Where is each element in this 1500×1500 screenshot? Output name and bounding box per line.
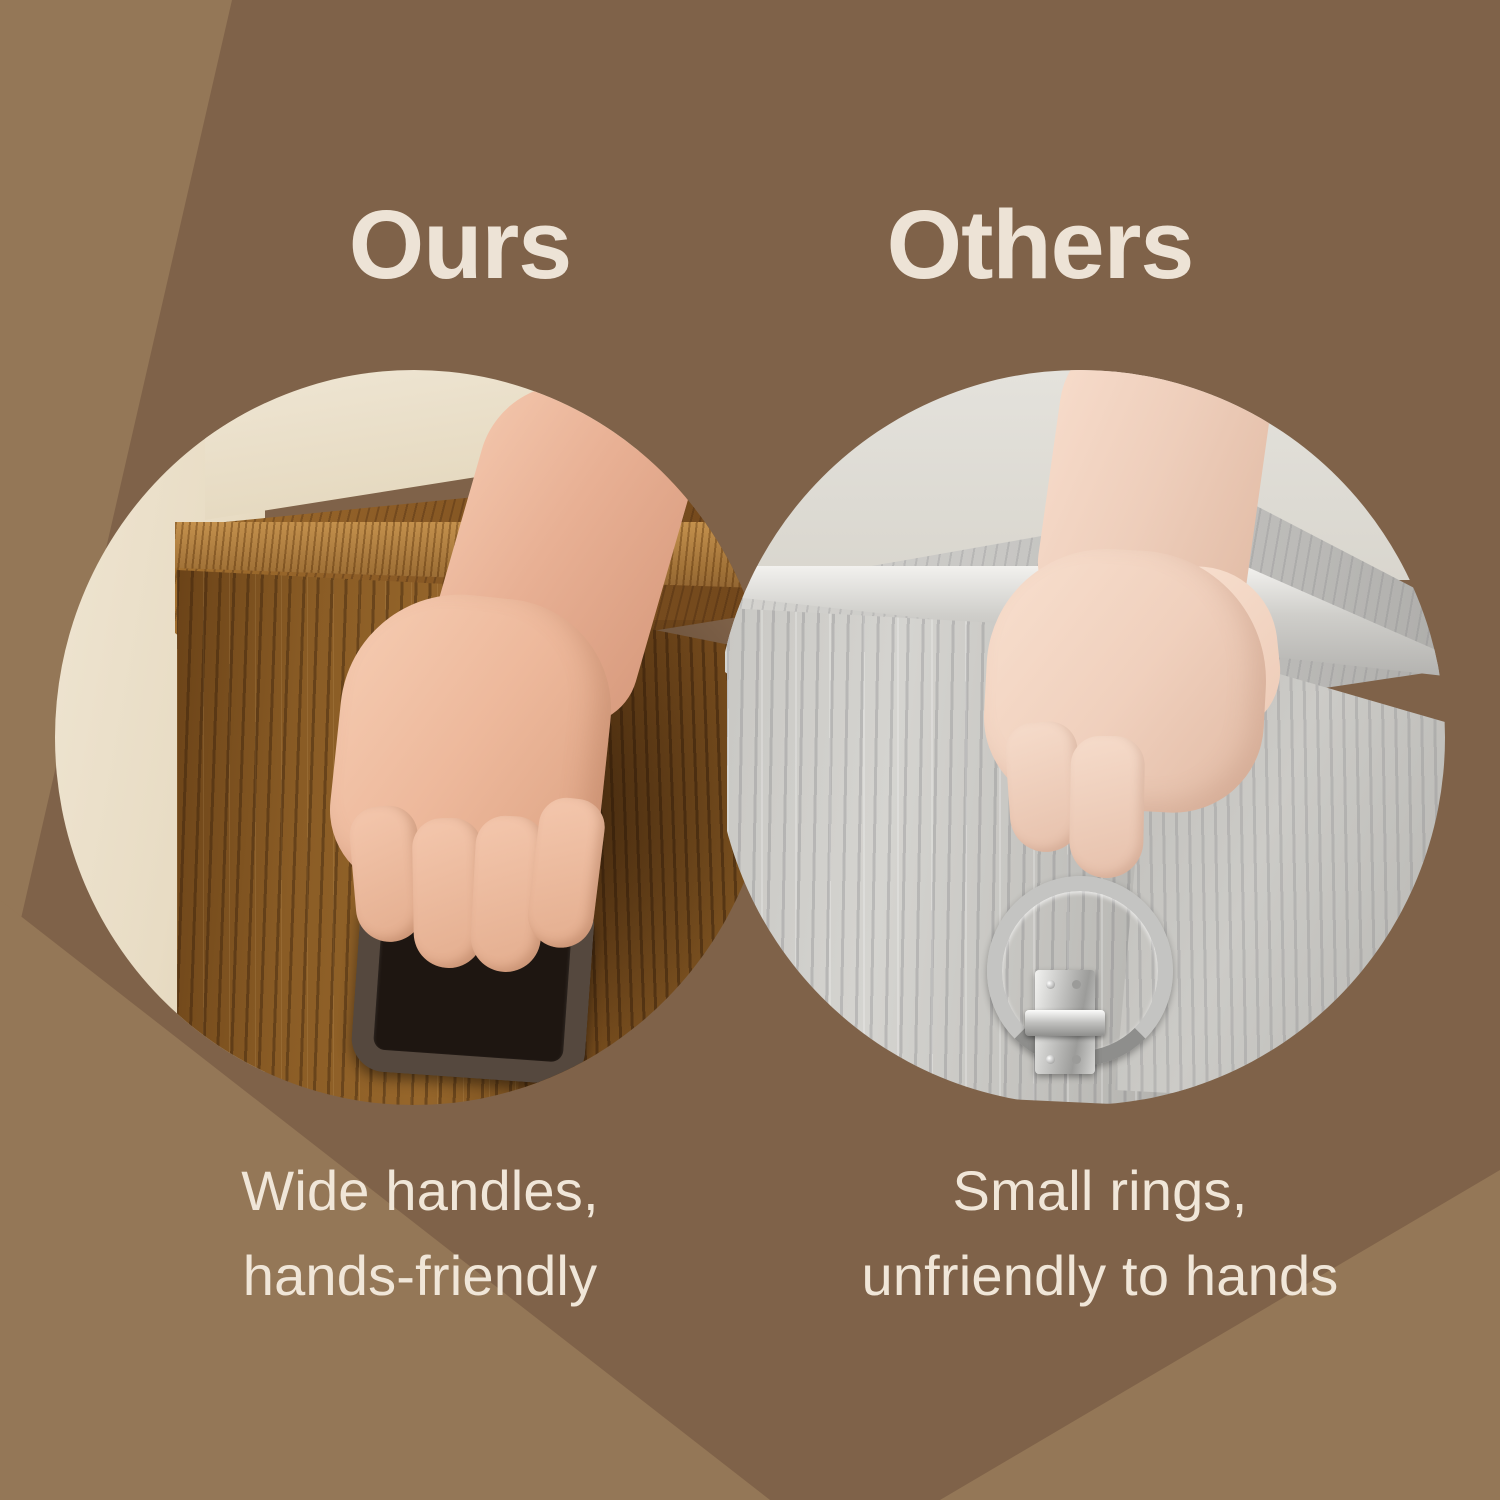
column-caption-ours: Wide handles, hands-friendly — [110, 1148, 730, 1318]
column-title-ours: Ours — [180, 196, 740, 293]
photo-circle-ours — [55, 370, 773, 1105]
finger — [1069, 735, 1145, 878]
hand-pinching-ring — [930, 370, 1350, 930]
rustic-wood-cabinet-wide-handle-photo — [55, 370, 773, 1105]
ring-clamp-band — [1025, 1010, 1105, 1036]
comparison-graphic: Ours Others — [0, 0, 1500, 1500]
column-caption-others: Small rings, unfriendly to hands — [770, 1148, 1430, 1318]
hand-gripping-handle — [291, 406, 691, 1016]
grey-wood-cabinet-small-ring-pull-photo — [715, 370, 1445, 1105]
column-title-others: Others — [760, 196, 1320, 293]
photo-circle-others — [715, 370, 1445, 1105]
